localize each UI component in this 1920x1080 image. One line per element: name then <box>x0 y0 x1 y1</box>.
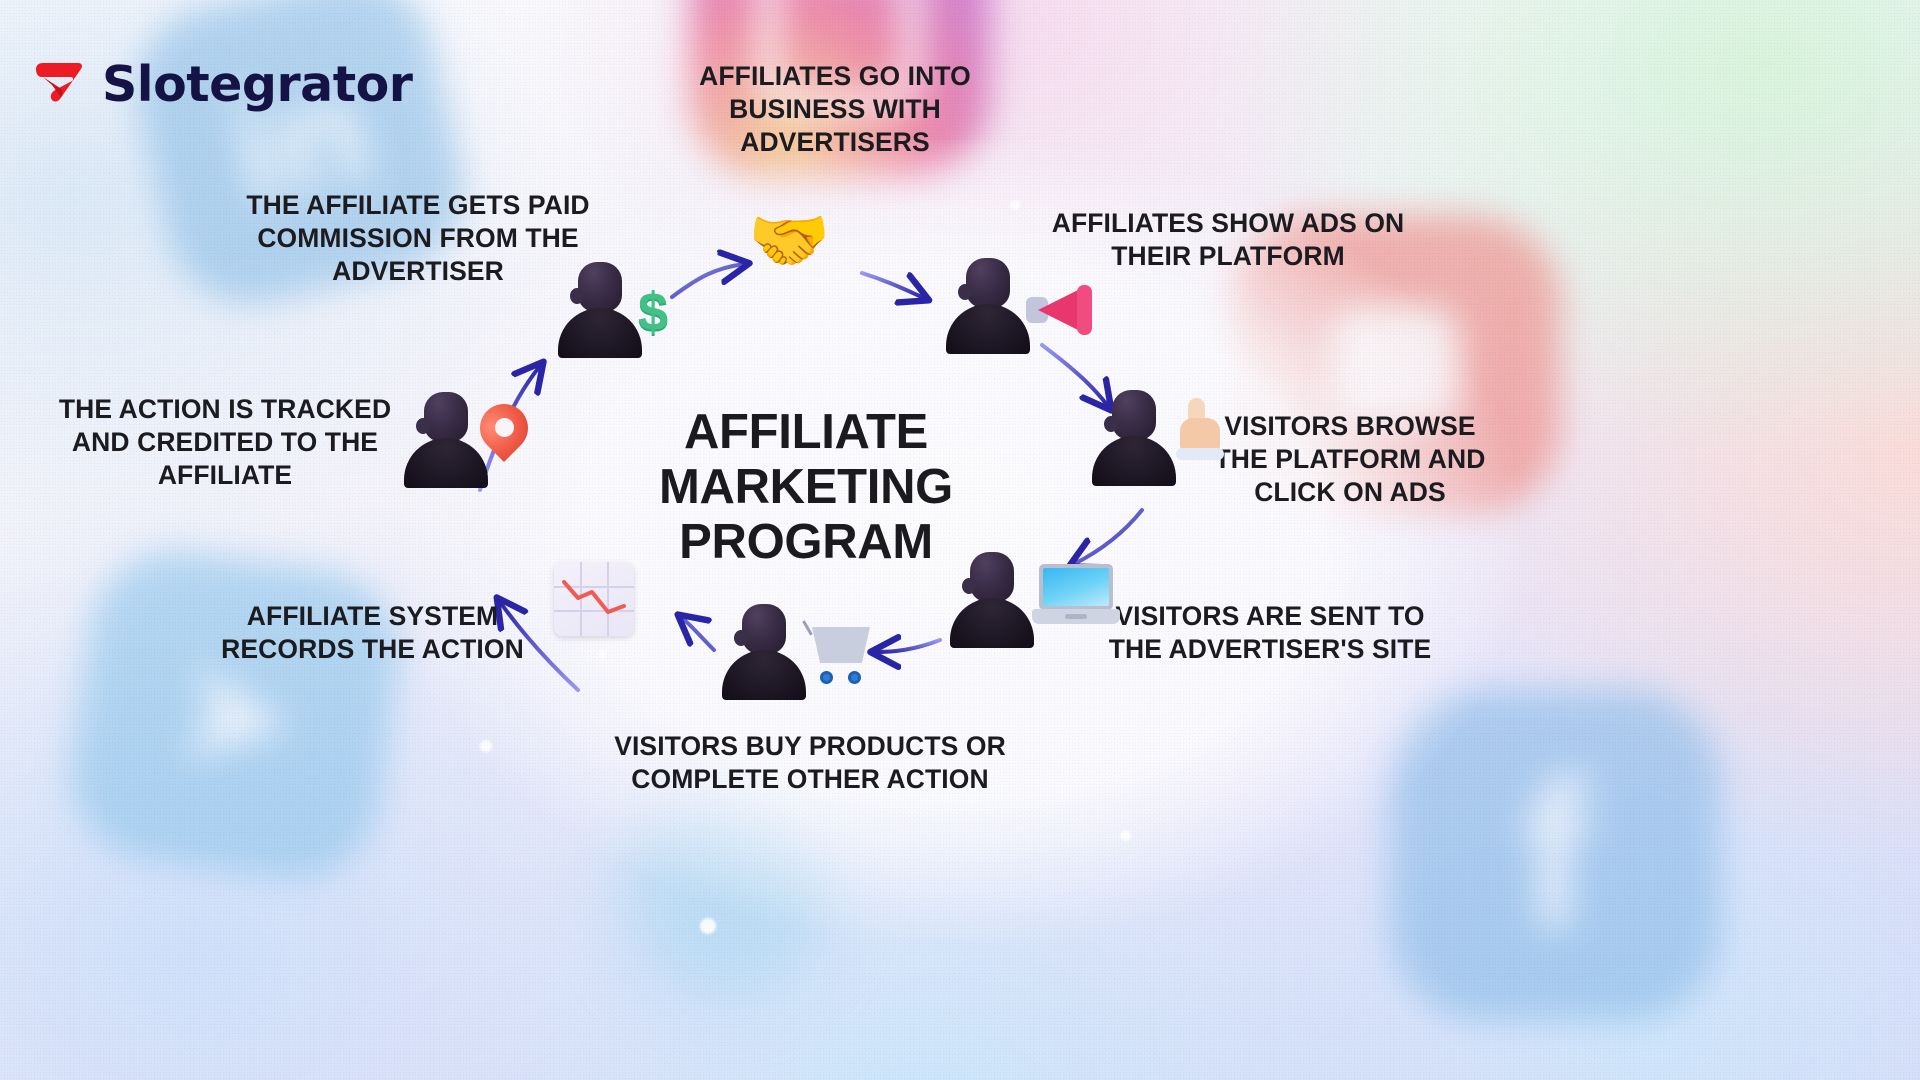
brand-name: Slotegrator <box>102 56 412 113</box>
person-bust-icon <box>722 604 806 700</box>
step-label-buy-products: VISITORS BUY PRODUCTS OR COMPLETE OTHER … <box>610 730 1010 796</box>
node-sent-to-site <box>950 552 1120 648</box>
node-show-ads <box>946 258 1098 354</box>
dollar-sign-icon: $ <box>638 281 668 343</box>
title-line-1: AFFILIATE MARKETING <box>556 405 1056 515</box>
infographic-canvas: in ➤ f <box>0 0 1920 1080</box>
person-bust-icon <box>404 392 488 488</box>
brand-logo[interactable]: Slotegrator <box>30 55 412 113</box>
node-buy-products <box>722 604 876 700</box>
shopping-cart-icon <box>802 621 876 687</box>
step-label-tracked-credited: THE ACTION IS TRACKED AND CREDITED TO TH… <box>30 393 420 492</box>
node-records-action <box>554 562 634 636</box>
node-gets-commission: $ <box>558 262 668 358</box>
laptop-icon <box>1032 564 1120 626</box>
person-bust-icon <box>950 552 1034 648</box>
chart-card-icon <box>554 562 634 636</box>
person-bust-icon <box>558 262 642 358</box>
person-bust-icon <box>1092 390 1176 486</box>
location-pin-icon <box>480 404 528 468</box>
step-label-show-ads: AFFILIATES SHOW ADS ON THEIR PLATFORM <box>1048 207 1408 273</box>
pointing-hand-icon <box>1172 398 1226 460</box>
person-bust-icon <box>946 258 1030 354</box>
node-tracked-credited <box>404 392 528 488</box>
page-title: AFFILIATE MARKETING PROGRAM <box>556 405 1056 570</box>
megaphone-icon <box>1024 285 1098 335</box>
node-browse-click <box>1092 390 1226 486</box>
step-label-records-action: AFFILIATE SYSTEM RECORDS THE ACTION <box>205 600 540 666</box>
handshake-icon: 🤝 <box>748 208 830 274</box>
node-go-into-business: 🤝 <box>748 208 830 274</box>
slotegrator-swoosh-icon <box>30 55 88 113</box>
step-label-browse-click: VISITORS BROWSE THE PLATFORM AND CLICK O… <box>1195 410 1505 509</box>
step-label-go-into-business: AFFILIATES GO INTO BUSINESS WITH ADVERTI… <box>640 60 1030 159</box>
step-label-sent-to-site: VISITORS ARE SENT TO THE ADVERTISER'S SI… <box>1105 600 1435 666</box>
